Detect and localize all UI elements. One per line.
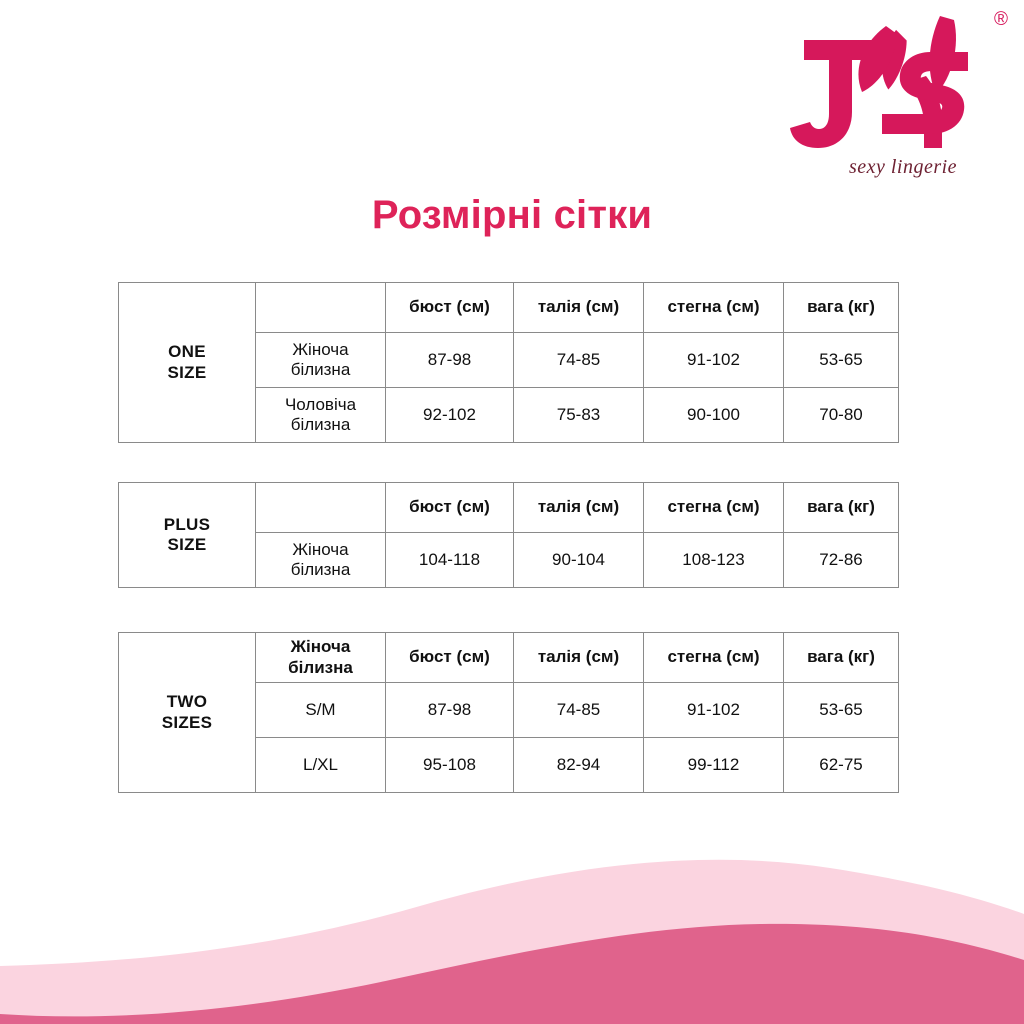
table-row: ONE SIZE бюст (см) талія (см) стегна (см… [119, 283, 899, 333]
row-label-cell: Чоловіча білизна [256, 388, 386, 443]
cell-hips: 91-102 [644, 683, 784, 738]
column-header-weight: вага (кг) [784, 283, 899, 333]
group-label-cell: ONE SIZE [119, 283, 256, 443]
cell-bust: 92-102 [386, 388, 514, 443]
cell-waist: 90-104 [514, 533, 644, 588]
row-label-line1: Жіноча [258, 540, 383, 560]
column-header-kind-line2: білизна [258, 658, 383, 678]
cell-hips: 108-123 [644, 533, 784, 588]
cell-waist: 74-85 [514, 683, 644, 738]
column-header-kind: Жіноча білизна [256, 633, 386, 683]
cell-hips: 90-100 [644, 388, 784, 443]
cell-waist: 74-85 [514, 333, 644, 388]
row-label-line1: Жіноча [258, 340, 383, 360]
column-header-weight: вага (кг) [784, 483, 899, 533]
group-label-cell: TWO SIZES [119, 633, 256, 793]
row-label-cell: Жіноча білизна [256, 533, 386, 588]
page-title: Розмірні сітки [0, 193, 1024, 238]
row-label-line2: білизна [258, 415, 383, 435]
row-label-line2: білизна [258, 360, 383, 380]
column-header-waist: талія (см) [514, 483, 644, 533]
cell-hips: 99-112 [644, 738, 784, 793]
decorative-wave-footer [0, 814, 1024, 1024]
group-label-cell: PLUS SIZE [119, 483, 256, 588]
column-header-bust: бюст (см) [386, 483, 514, 533]
group-label-line2: SIZE [121, 363, 253, 383]
brand-tagline: sexy lingerie [790, 156, 1016, 179]
cell-weight: 62-75 [784, 738, 899, 793]
column-header-waist: талія (см) [514, 283, 644, 333]
size-table-one-size: ONE SIZE бюст (см) талія (см) стегна (см… [118, 282, 899, 443]
registered-trademark-icon: ® [994, 10, 1008, 29]
group-label-line1: PLUS [121, 515, 253, 535]
table-row: TWO SIZES Жіноча білизна бюст (см) талія… [119, 633, 899, 683]
column-header-kind-line1: Жіноча [258, 637, 383, 657]
cell-bust: 87-98 [386, 683, 514, 738]
jsy-logo-icon [790, 8, 1016, 156]
row-label-cell: L/XL [256, 738, 386, 793]
column-header-hips: стегна (см) [644, 633, 784, 683]
column-header-waist: талія (см) [514, 633, 644, 683]
group-label-line1: ONE [121, 342, 253, 362]
group-label-line2: SIZE [121, 535, 253, 555]
size-table-two-sizes: TWO SIZES Жіноча білизна бюст (см) талія… [118, 632, 899, 793]
group-label-line2: SIZES [121, 713, 253, 733]
empty-header-cell [256, 283, 386, 333]
column-header-hips: стегна (см) [644, 283, 784, 333]
cell-bust: 95-108 [386, 738, 514, 793]
column-header-bust: бюст (см) [386, 633, 514, 683]
column-header-weight: вага (кг) [784, 633, 899, 683]
brand-logo: ® sexy lingerie [790, 8, 1016, 186]
cell-weight: 53-65 [784, 683, 899, 738]
row-label-line2: білизна [258, 560, 383, 580]
size-chart-page: ® sexy lingerie Розмірні сітки ONE SIZE … [0, 0, 1024, 1024]
row-label-cell: S/M [256, 683, 386, 738]
table-row: PLUS SIZE бюст (см) талія (см) стегна (с… [119, 483, 899, 533]
cell-bust: 104-118 [386, 533, 514, 588]
row-label-line1: Чоловіча [258, 395, 383, 415]
cell-weight: 72-86 [784, 533, 899, 588]
cell-weight: 53-65 [784, 333, 899, 388]
group-label-line1: TWO [121, 692, 253, 712]
cell-hips: 91-102 [644, 333, 784, 388]
row-label-cell: Жіноча білизна [256, 333, 386, 388]
empty-header-cell [256, 483, 386, 533]
column-header-hips: стегна (см) [644, 483, 784, 533]
cell-weight: 70-80 [784, 388, 899, 443]
cell-bust: 87-98 [386, 333, 514, 388]
cell-waist: 75-83 [514, 388, 644, 443]
size-table-plus-size: PLUS SIZE бюст (см) талія (см) стегна (с… [118, 482, 899, 588]
column-header-bust: бюст (см) [386, 283, 514, 333]
cell-waist: 82-94 [514, 738, 644, 793]
